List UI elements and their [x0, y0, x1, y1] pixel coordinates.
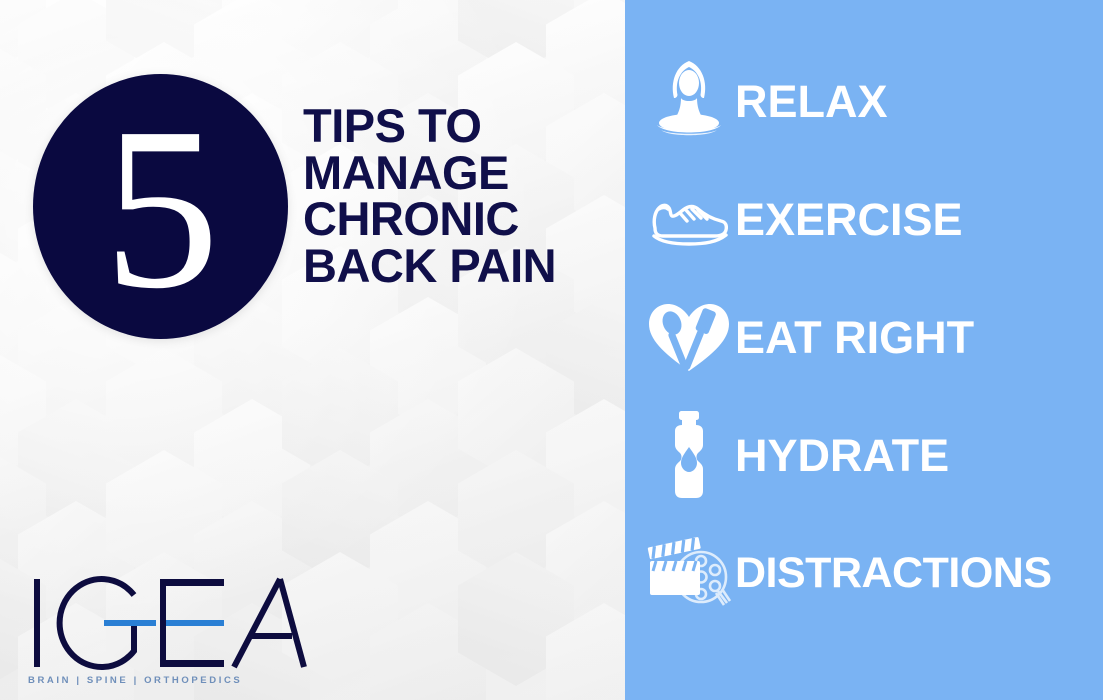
headline-line-3: CHRONIC	[303, 196, 623, 243]
tip-item-eat-right[interactable]: EAT RIGHT	[625, 278, 1103, 396]
page-title: TIPS TO MANAGE CHRONIC BACK PAIN	[303, 103, 623, 289]
clapperboard-film-reel-icon	[643, 533, 735, 613]
water-bottle-icon	[643, 409, 735, 501]
tip-item-relax[interactable]: RELAX	[625, 42, 1103, 160]
heart-utensils-icon	[643, 299, 735, 375]
igea-logomark-icon	[28, 575, 310, 671]
tip-item-distractions[interactable]: DISTRACTIONS	[625, 514, 1103, 632]
tip-label-exercise: EXERCISE	[735, 197, 963, 242]
infographic-canvas: 5 TIPS TO MANAGE CHRONIC BACK PAIN	[0, 0, 1103, 700]
running-shoe-icon	[643, 188, 735, 250]
brand-tagline: BRAIN | SPINE | ORTHOPEDICS	[28, 675, 318, 686]
tip-item-exercise[interactable]: EXERCISE	[625, 160, 1103, 278]
number-badge: 5	[33, 74, 288, 339]
headline-line-2: MANAGE	[303, 150, 623, 197]
tip-label-relax: RELAX	[735, 79, 888, 124]
badge-number-text: 5	[104, 119, 218, 300]
left-panel: 5 TIPS TO MANAGE CHRONIC BACK PAIN	[0, 0, 625, 700]
brand-logo: BRAIN | SPINE | ORTHOPEDICS	[28, 575, 318, 686]
tip-item-hydrate[interactable]: HYDRATE	[625, 396, 1103, 514]
tip-label-eat-right: EAT RIGHT	[735, 315, 974, 360]
tip-label-distractions: DISTRACTIONS	[735, 552, 1052, 595]
meditation-yoga-icon	[643, 58, 735, 144]
headline-line-1: TIPS TO	[303, 103, 623, 150]
right-panel: RELAX	[625, 0, 1103, 700]
tips-list: RELAX	[625, 0, 1103, 700]
tip-label-hydrate: HYDRATE	[735, 433, 949, 478]
headline-line-4: BACK PAIN	[303, 243, 623, 290]
